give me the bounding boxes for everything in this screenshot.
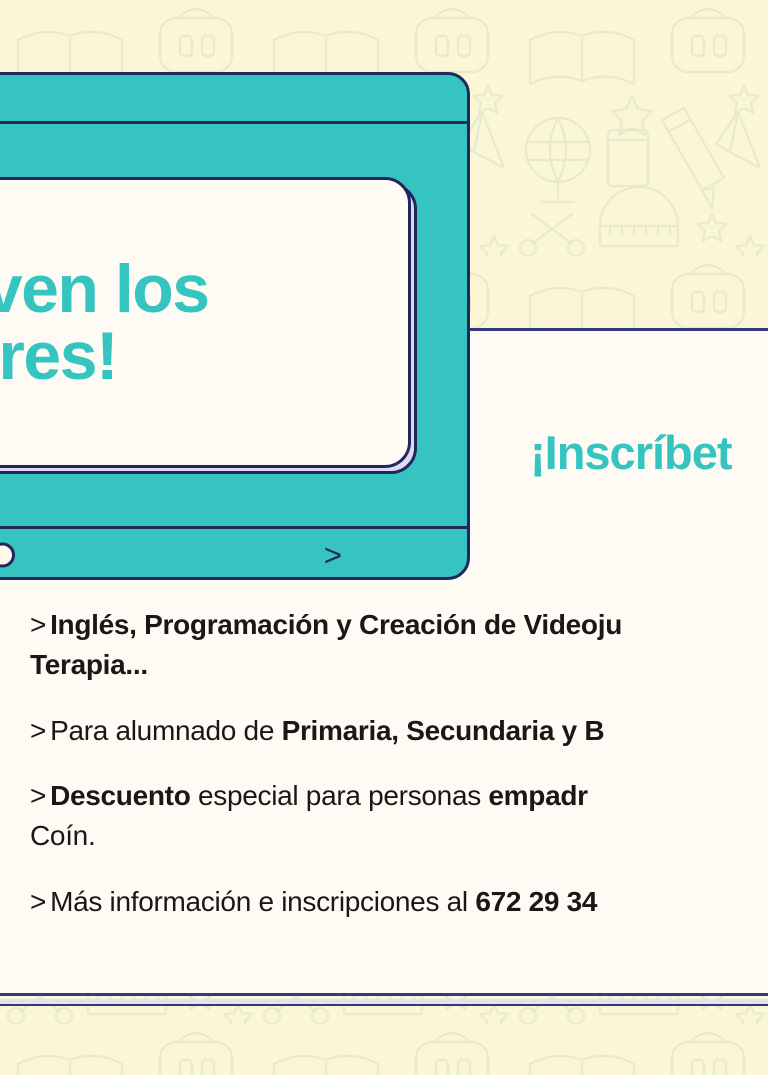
cta-inscribete: ¡Inscríbet [530, 425, 732, 480]
list-item: >Inglés, Programación y Creación de Vide… [30, 605, 768, 685]
circle-icon [0, 542, 15, 567]
bullet-0-line1: Inglés, Programación y Creación de Video… [50, 609, 622, 640]
bullet-2-bold2: empadr [488, 780, 587, 811]
card-footer-bar: > [0, 526, 470, 580]
bullet-marker: > [30, 886, 46, 917]
bullet-1-prefix: Para alumnado de [50, 715, 282, 746]
bullet-3-prefix: Más información e inscripciones al [50, 886, 475, 917]
bullet-2-mid: especial para personas [191, 780, 489, 811]
bullet-2-line2: Coín. [30, 816, 768, 856]
headline-line-1: uelven los [0, 256, 209, 323]
panel-underline-shadow [0, 999, 768, 1006]
bullet-2-bold1: Descuento [50, 780, 190, 811]
list-item: >Para alumnado de Primaria, Secundaria y… [30, 711, 768, 751]
bullet-1-bold: Primaria, Secundaria y B [282, 715, 605, 746]
card-title-bar [0, 72, 470, 124]
bullet-0-line2: Terapia... [30, 649, 148, 680]
chevron-right-icon[interactable]: > [324, 539, 342, 570]
headline: uelven los alleres! [0, 256, 209, 389]
card-screen: uelven los alleres! [0, 177, 411, 468]
list-item: >Descuento especial para personas empadr… [30, 776, 768, 856]
headline-line-2: alleres! [0, 323, 209, 390]
bullet-3-phone: 672 29 34 [475, 886, 597, 917]
bullet-marker: > [30, 609, 46, 640]
bullet-marker: > [30, 780, 46, 811]
list-item: >Más información e inscripciones al 672 … [30, 882, 768, 922]
poster-canvas: > uelven los alleres! ¡Inscríbet >Inglés… [0, 0, 768, 1075]
bullet-list: >Inglés, Programación y Creación de Vide… [30, 605, 768, 948]
bullet-marker: > [30, 715, 46, 746]
